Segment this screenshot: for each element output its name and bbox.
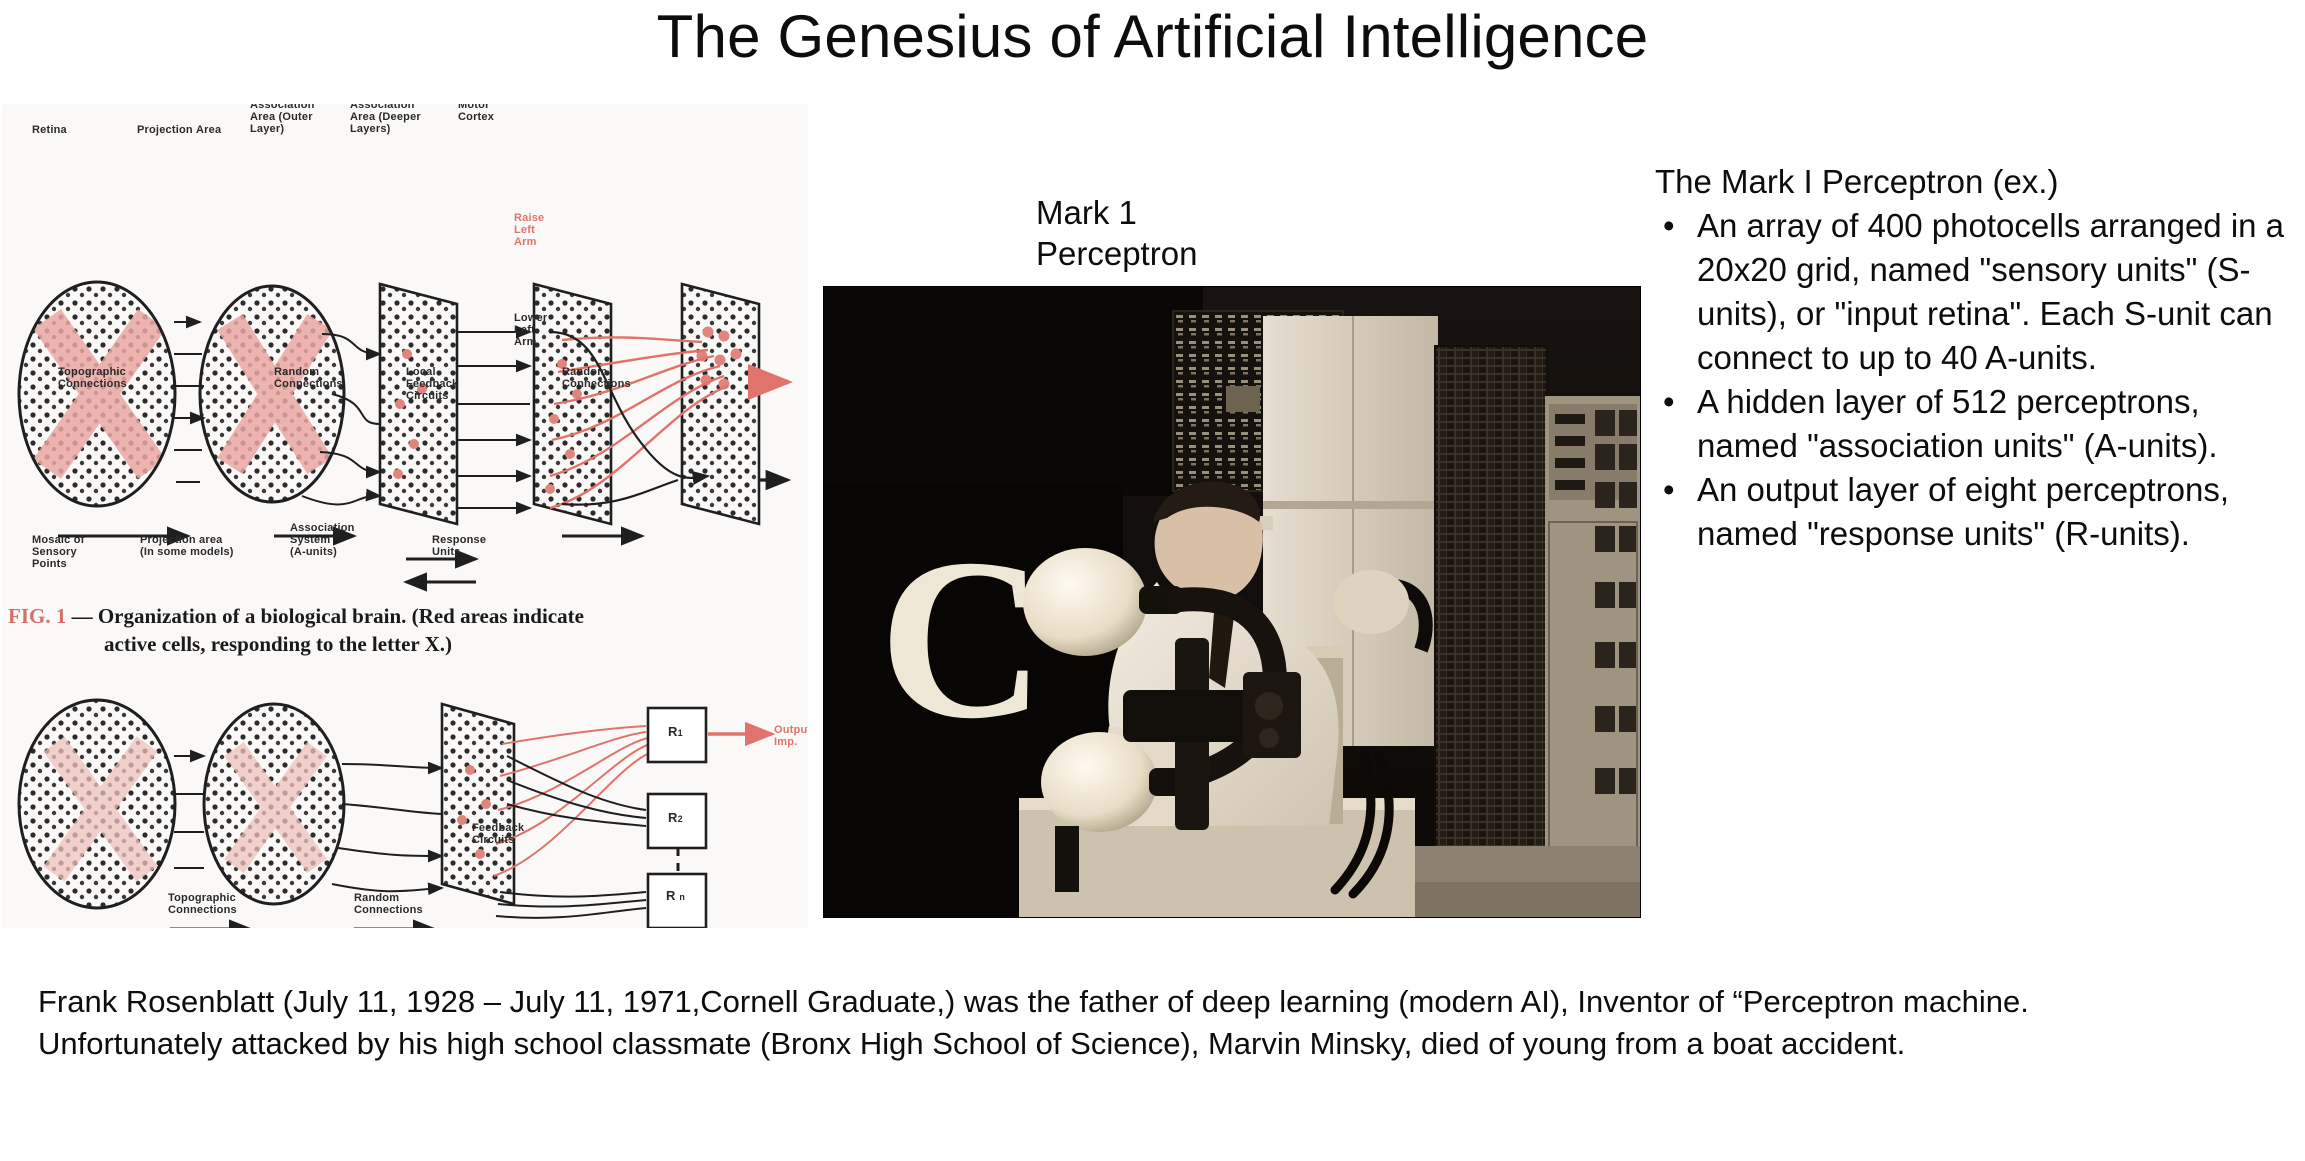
fig1-caption-line2: active cells, responding to the letter X…: [104, 630, 584, 658]
fig2-label-feedback-circuits: FeedbackCircuits: [472, 822, 524, 846]
photo-caption-line1: Mark 1: [1036, 192, 1336, 233]
photo-illustration: C: [823, 286, 1641, 918]
fig2-label-association-system: AssociationSystem(A-units): [290, 522, 355, 558]
fig1-label-random-connections-1: RandomConnections: [274, 366, 343, 390]
fig1-label-association-deeper: AssociationArea (DeeperLayers): [350, 104, 421, 135]
figure-drawing: [2, 104, 808, 928]
bullet-glyph-icon: •: [1663, 204, 1675, 248]
photo-caption-line2: Perceptron: [1036, 233, 1336, 274]
list-item: • A hidden layer of 512 perceptrons, nam…: [1655, 380, 2295, 468]
fig2-label-topographic-connections: TopographicConnections: [168, 892, 237, 916]
fig2-label-response-units: ResponseUnits: [432, 534, 486, 558]
fig2-label-random-connections: RandomConnections: [354, 892, 423, 916]
fig1-label-raise-left-arm: RaiseLeftArm: [514, 212, 544, 248]
letter-c-emblem: C: [879, 511, 1045, 766]
fig1-caption-line1: Organization of a biological brain. (Red…: [98, 604, 584, 628]
bullet-glyph-icon: •: [1663, 468, 1675, 512]
bullet-text: A hidden layer of 512 perceptrons, named…: [1697, 383, 2218, 464]
fig1-dash: —: [72, 604, 93, 628]
fig1-label-lower-left-arm: LowerLeftArm: [514, 312, 547, 348]
fig1-label-random-connections-2: RandomConnections: [562, 366, 631, 390]
fig2-label-output-imp: OutputImp.: [774, 724, 808, 748]
bullet-text: An output layer of eight perceptrons, na…: [1697, 471, 2229, 552]
fig2-response-unit-r1: R1: [668, 726, 683, 739]
bullet-glyph-icon: •: [1663, 380, 1675, 424]
mark1-perceptron-photo: C: [823, 286, 1641, 918]
fig1-number: FIG. 1: [8, 604, 66, 628]
photo-caption: Mark 1 Perceptron: [1036, 192, 1336, 274]
right-panel-heading: The Mark I Perceptron (ex.): [1655, 160, 2295, 204]
fig1-label-local-feedback-circuits: LocalFeedbackCircuits: [406, 366, 458, 402]
perceptron-details-panel: The Mark I Perceptron (ex.) • An array o…: [1655, 160, 2295, 556]
fig1-label-association-outer: AssociationArea (OuterLayer): [250, 104, 315, 135]
perceptron-bullet-list: • An array of 400 photocells arranged in…: [1655, 204, 2295, 556]
list-item: • An output layer of eight perceptrons, …: [1655, 468, 2295, 556]
fig1-caption: FIG. 1 — Organization of a biological br…: [8, 602, 584, 658]
fig2-label-projection-area: Projection area(In some models): [140, 534, 234, 558]
bottom-caption: Frank Rosenblatt (July 11, 1928 – July 1…: [38, 981, 2218, 1065]
slide-canvas: The Genesius of Artificial Intelligence: [0, 0, 2305, 1161]
fig1-label-topographic-connections: TopographicConnections: [58, 366, 127, 390]
fig2-response-unit-r2: R2: [668, 812, 683, 825]
fig2-label-sensory: Mosaic ofSensoryPoints: [32, 534, 85, 570]
list-item: • An array of 400 photocells arranged in…: [1655, 204, 2295, 380]
bullet-text: An array of 400 photocells arranged in a…: [1697, 207, 2284, 376]
fig1-label-projection-area: Projection Area: [137, 124, 221, 136]
fig1-label-motor-cortex: MotorCortex: [458, 104, 494, 123]
fig2-response-unit-rn: R n: [666, 890, 685, 903]
fig1-label-retina: Retina: [32, 124, 67, 136]
perceptron-figure-image: Retina Projection Area AssociationArea (…: [2, 104, 808, 928]
page-title: The Genesius of Artificial Intelligence: [0, 2, 2305, 71]
